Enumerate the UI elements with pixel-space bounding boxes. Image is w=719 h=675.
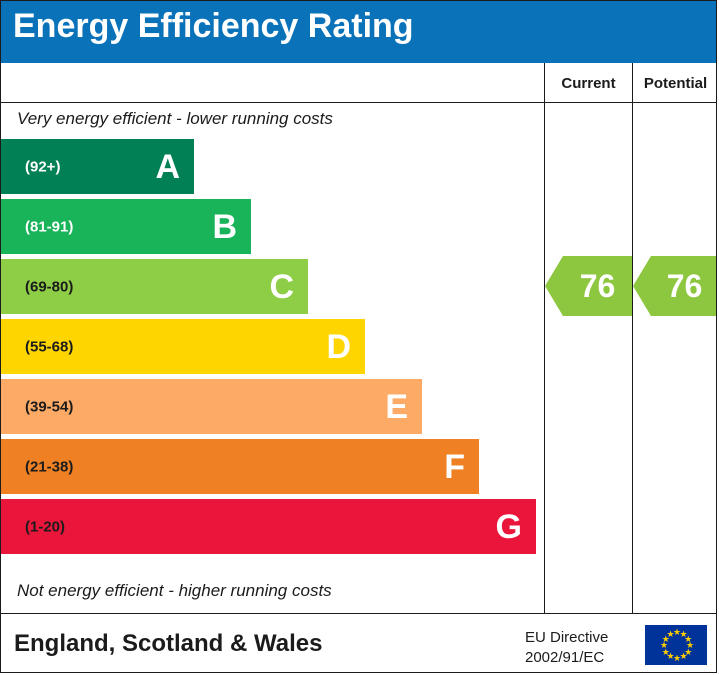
current-rating-value: 76 [580, 268, 616, 305]
band-a-letter: A [155, 150, 180, 184]
band-d-range: (55-68) [25, 338, 73, 355]
band-c-range: (69-80) [25, 278, 73, 295]
region-label: England, Scotland & Wales [14, 630, 322, 658]
band-a-range: (92+) [25, 158, 60, 175]
band-b-letter: B [212, 210, 237, 244]
chart-body: Very energy efficient - lower running co… [1, 103, 717, 613]
band-f-letter: F [444, 450, 465, 484]
eu-flag-icon: ★★★★★★★★★★★★ [645, 625, 707, 665]
column-header-current: Current [544, 63, 632, 103]
band-e-letter: E [385, 390, 408, 424]
band-e-range: (39-54) [25, 398, 73, 415]
eu-directive-line1: EU Directive [525, 628, 608, 648]
potential-arrow-tip-icon [633, 256, 651, 316]
band-f: (21-38) F [1, 439, 479, 494]
band-b: (81-91) B [1, 199, 251, 254]
band-d-letter: D [326, 330, 351, 364]
eu-directive-line2: 2002/91/EC [525, 648, 608, 668]
rating-bands: (92+) A (81-91) B (69-80) C (55-68) D (3… [1, 139, 544, 559]
caption-efficient: Very energy efficient - lower running co… [17, 109, 333, 129]
eu-star-icon: ★ [667, 631, 673, 637]
column-header-potential: Potential [632, 63, 717, 103]
band-c: (69-80) C [1, 259, 308, 314]
band-g-letter: G [496, 510, 522, 544]
band-a: (92+) A [1, 139, 194, 194]
band-g-range: (1-20) [25, 518, 65, 535]
caption-inefficient: Not energy efficient - higher running co… [17, 581, 332, 601]
current-rating-marker: 76 [563, 256, 632, 316]
band-d: (55-68) D [1, 319, 365, 374]
potential-rating-marker: 76 [651, 256, 717, 316]
epc-chart: Energy Efficiency Rating Current Potenti… [0, 0, 717, 673]
potential-rating-value: 76 [667, 268, 703, 305]
chart-footer: England, Scotland & Wales EU Directive 2… [1, 613, 717, 673]
band-b-range: (81-91) [25, 218, 73, 235]
band-c-letter: C [269, 270, 294, 304]
chart-header: Energy Efficiency Rating [1, 1, 717, 63]
band-g: (1-20) G [1, 499, 536, 554]
page-title: Energy Efficiency Rating [13, 7, 414, 46]
band-e: (39-54) E [1, 379, 422, 434]
eu-directive-text: EU Directive 2002/91/EC [525, 628, 608, 668]
current-arrow-tip-icon [545, 256, 563, 316]
band-f-range: (21-38) [25, 458, 73, 475]
